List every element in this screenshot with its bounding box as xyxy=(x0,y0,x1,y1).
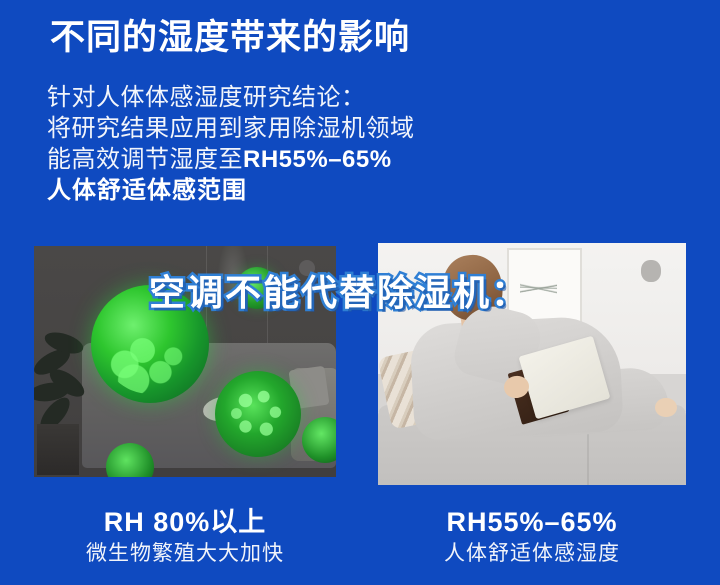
caption-left-main: RH 80%以上 xyxy=(34,505,336,539)
overlay-headline: 空调不能代替除湿机： xyxy=(149,272,529,314)
intro-paragraph: 针对人体体感湿度研究结论： 将研究结果应用到家用除湿机领域 能高效调节湿度至RH… xyxy=(47,82,507,206)
intro-line-3: 能高效调节湿度至RH55%–65% xyxy=(47,144,507,175)
intro-line-1: 针对人体体感湿度研究结论： xyxy=(47,82,507,113)
page-title: 不同的湿度带来的影响 xyxy=(50,16,410,60)
intro-line-2: 将研究结果应用到家用除湿机领域 xyxy=(47,113,507,144)
wall-light-icon xyxy=(641,260,661,282)
germ-icon xyxy=(215,371,301,457)
person-foot xyxy=(655,398,677,417)
caption-right-sub: 人体舒适体感湿度 xyxy=(378,539,686,569)
caption-left-sub: 微生物繁殖大大加快 xyxy=(34,539,336,569)
humidity-range-emphasis: RH55%–65% xyxy=(243,146,392,173)
caption-comfort-humidity: RH55%–65% 人体舒适体感湿度 xyxy=(378,505,686,569)
caption-high-humidity: RH 80%以上 微生物繁殖大大加快 xyxy=(34,505,336,569)
intro-line-4: 人体舒适体感范围 xyxy=(47,175,507,206)
intro-line-3-text: 能高效调节湿度至 xyxy=(47,146,243,173)
caption-right-main: RH55%–65% xyxy=(378,505,686,539)
plant-pot xyxy=(37,424,79,474)
poster-root: 不同的湿度带来的影响 针对人体体感湿度研究结论： 将研究结果应用到家用除湿机领域… xyxy=(0,0,720,585)
